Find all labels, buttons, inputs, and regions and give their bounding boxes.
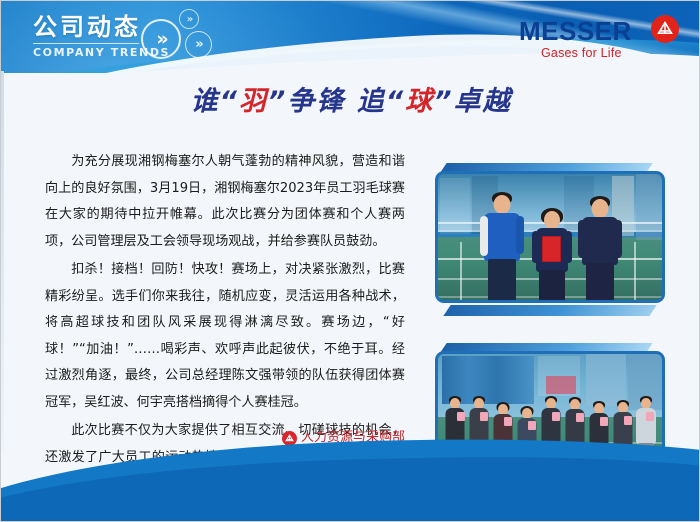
person-head [544, 211, 560, 229]
title-highlight-1: 羽 [239, 86, 268, 117]
title-quote-open-1: “ [220, 86, 239, 117]
title-quote-open-2: “ [386, 86, 405, 117]
photo-image-1 [438, 174, 662, 300]
newsletter-page: 公司动态 COMPANY TRENDS » » » MESSER Gases f… [0, 0, 700, 522]
person-torso [582, 217, 618, 265]
messer-triangle-mark-icon [651, 15, 679, 43]
messer-tagline: Gases for Life [541, 46, 622, 60]
photo-winners-trio [435, 163, 669, 315]
title-part-1: 谁 [191, 86, 220, 117]
photo-person [530, 198, 574, 300]
court-line [460, 242, 462, 300]
wall-panel [440, 178, 470, 234]
person-arm [516, 216, 524, 254]
person-arm [578, 220, 586, 258]
title-highlight-2: 球 [405, 86, 434, 117]
court-line [634, 242, 636, 300]
person-arm [565, 231, 572, 263]
page-title: 谁“羽”争锋 追“球”卓越 [1, 85, 700, 119]
person-legs [488, 259, 516, 300]
page-header: 公司动态 COMPANY TRENDS » » » MESSER Gases f… [1, 1, 700, 73]
article-paragraph-2: 扣杀！接档！回防！快攻！赛场上，对决紧张激烈，比赛精彩纷呈。选手们你来我往，随机… [45, 257, 405, 416]
title-quote-close-1: ” [268, 86, 287, 117]
person-arm [480, 216, 488, 256]
brand-divider [33, 43, 139, 44]
double-chevron-icon-medium: » [185, 31, 212, 58]
title-part-4: 卓越 [453, 86, 511, 117]
photo-frame-1 [435, 171, 665, 303]
page-left-edge [1, 71, 4, 451]
double-chevron-icon-large: » [141, 19, 181, 59]
award-certificate [542, 236, 561, 262]
title-part-3: 追 [357, 86, 386, 117]
messer-wordmark: MESSER [519, 17, 632, 45]
article-paragraph-1: 为充分展现湘钢梅塞尔人朝气蓬勃的精神风貌，营造和谐向上的良好氛围，3月19日，湘… [45, 149, 405, 255]
photo-person [576, 192, 624, 300]
wall-banner [546, 376, 576, 394]
person-arm [532, 231, 539, 263]
person-head [494, 195, 511, 214]
person-legs [586, 263, 614, 300]
person-torso [484, 213, 520, 261]
wave-deep-2 [1, 449, 700, 521]
title-part-2: 争锋 [287, 86, 345, 117]
title-quote-close-2: ” [434, 86, 453, 117]
photo-person [478, 190, 526, 300]
bubble-bottom-band-1 [443, 305, 656, 316]
footer-waves [1, 411, 700, 521]
messer-logo: MESSER Gases for Life [519, 17, 679, 63]
person-legs [539, 270, 565, 300]
person-arm [614, 220, 622, 258]
person-head [592, 199, 609, 218]
double-chevron-icon-small: » [179, 9, 199, 29]
